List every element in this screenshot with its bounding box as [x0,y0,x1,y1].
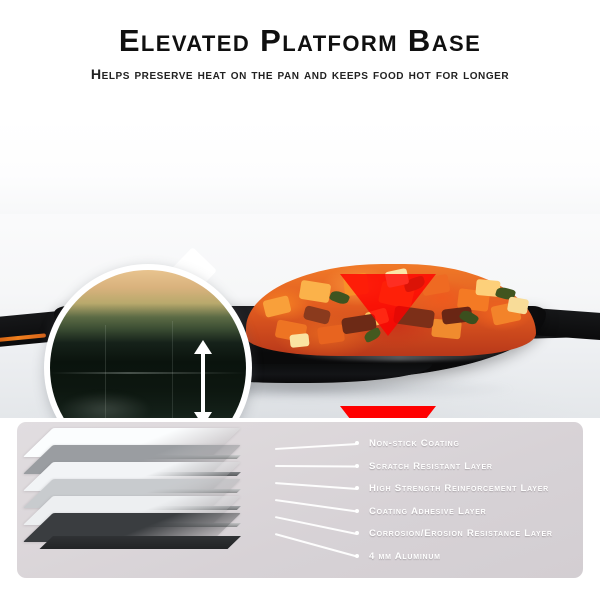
arrow-head-up [194,340,212,354]
layer-label: Non-stick Coating [369,438,460,449]
leader-dot [355,509,359,513]
leader-dot [355,554,359,558]
infographic-page: Elevated Platform Base Helps preserve he… [0,0,600,600]
layer-label: Scratch Resistant Layer [369,461,493,472]
backdrop-horizon [0,118,600,214]
base-reflection [58,392,152,418]
arrow-head-down [194,412,212,418]
base-height-magnifier [44,264,252,418]
page-subtitle: Helps preserve heat on the pan and keeps… [0,66,600,84]
header-block: Elevated Platform Base Helps preserve he… [0,0,600,118]
food-piece-pale [289,333,309,348]
layer-label: Corrosion/Erosion Resistance Layer [369,528,553,539]
layer-label: High Strength Reinforcement Layer [369,483,549,494]
layer-plate-edge [40,536,241,549]
double-headed-vertical-arrow-icon [192,340,214,418]
leader-dot [355,464,359,468]
leader-dot [355,441,359,445]
exploded-layer-stack [53,428,293,576]
layer-label: Coating Adhesive Layer [369,506,486,517]
base-seam-line [172,321,173,418]
layer-plate [53,513,241,571]
red-triangle-up-icon [340,274,436,336]
red-triangle-down-icon [340,406,436,418]
arrow-shaft [201,353,205,413]
hero-panel [0,118,600,418]
layer-label: 4 mm Aluminum [369,551,441,562]
base-edge-line [50,372,246,374]
food-piece-pale [507,296,529,314]
leader-dot [355,531,359,535]
construction-panel: Non-stick CoatingScratch Resistant Layer… [17,422,583,578]
page-title: Elevated Platform Base [0,22,600,60]
leader-dot [355,486,359,490]
